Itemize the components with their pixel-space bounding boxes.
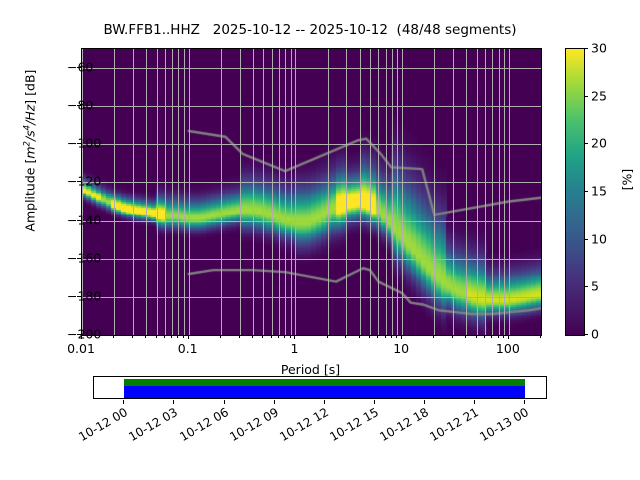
- colorbar-label: [%]: [620, 150, 635, 210]
- timeline-tick-mark: [224, 400, 225, 404]
- x-tick-mark: [290, 335, 291, 338]
- x-tick-mark: [359, 335, 360, 338]
- data-coverage-timeline: [93, 376, 547, 399]
- timeline-tick-label: 10-12 18: [370, 405, 431, 448]
- ppsd-plot-area: [81, 48, 542, 336]
- y-tick-label: −160: [67, 250, 77, 265]
- colorbar-tick-label: 5: [591, 279, 599, 294]
- timeline-tick-mark: [524, 400, 525, 404]
- colorbar-tick-label: 25: [591, 88, 607, 103]
- timeline-tick-mark: [173, 400, 174, 404]
- colorbar-tick-label: 15: [591, 184, 607, 199]
- x-tick-mark: [188, 335, 189, 339]
- x-tick-mark: [503, 335, 504, 338]
- x-tick-mark: [183, 335, 184, 338]
- timeline-tick-label: 10-12 12: [270, 405, 331, 448]
- x-axis-label: Period [s]: [81, 362, 540, 377]
- colorbar-tick-label: 30: [591, 41, 607, 56]
- timeline-tick-label: 10-13 00: [471, 405, 532, 448]
- timeline-tick-label: 10-12 21: [420, 405, 481, 448]
- colorbar-tick-mark: [584, 239, 588, 240]
- x-tick-mark: [484, 335, 485, 338]
- y-tick-label: −60: [67, 60, 77, 75]
- y-tick-label: −120: [67, 174, 77, 189]
- y-tick-label: −100: [67, 136, 77, 151]
- x-tick-mark: [327, 335, 328, 338]
- y-tick-label: −140: [67, 212, 77, 227]
- x-tick-mark: [252, 335, 253, 338]
- colorbar-tick-label: 0: [591, 327, 599, 342]
- colorbar-tick-mark: [584, 286, 588, 287]
- x-tick-mark: [377, 335, 378, 338]
- x-tick-mark: [278, 335, 279, 338]
- plot-gridlines: [82, 49, 541, 335]
- x-tick-mark: [433, 335, 434, 338]
- x-tick-mark: [540, 335, 541, 338]
- x-tick-label: 0.1: [178, 341, 198, 356]
- coverage-bar-green: [124, 379, 525, 387]
- colorbar: [565, 48, 585, 336]
- x-tick-label: 1: [290, 341, 298, 356]
- x-tick-mark: [294, 335, 295, 339]
- x-tick-mark: [345, 335, 346, 338]
- timeline-tick-mark: [123, 400, 124, 404]
- timeline-tick-label: 10-12 00: [70, 405, 131, 448]
- y-tick-label: −80: [67, 98, 77, 113]
- x-tick-mark: [132, 335, 133, 338]
- x-tick-mark: [156, 335, 157, 338]
- timeline-tick-label: 10-12 06: [170, 405, 231, 448]
- timeline-tick-mark: [474, 400, 475, 404]
- x-tick-label: 100: [496, 341, 520, 356]
- x-tick-mark: [239, 335, 240, 338]
- x-tick-label: 0.01: [67, 341, 95, 356]
- x-tick-mark: [145, 335, 146, 338]
- x-tick-mark: [171, 335, 172, 338]
- timeline-tick-mark: [274, 400, 275, 404]
- timeline-tick-label: 10-12 09: [220, 405, 281, 448]
- x-tick-mark: [396, 335, 397, 338]
- x-tick-mark: [113, 335, 114, 338]
- x-tick-mark: [491, 335, 492, 338]
- x-tick-mark: [476, 335, 477, 338]
- x-tick-mark: [391, 335, 392, 338]
- y-axis-label: Amplitude [m2/s4/Hz] [dB]: [22, 1, 37, 301]
- colorbar-tick-mark: [584, 48, 588, 49]
- page-title: BW.FFB1..HHZ 2025-10-12 -- 2025-10-12 (4…: [0, 22, 620, 38]
- coverage-bar-blue: [124, 386, 525, 398]
- x-tick-mark: [262, 335, 263, 338]
- x-tick-mark: [465, 335, 466, 338]
- x-tick-mark: [508, 335, 509, 339]
- x-tick-mark: [498, 335, 499, 338]
- x-tick-mark: [220, 335, 221, 338]
- timeline-tick-label: 10-12 15: [320, 405, 381, 448]
- colorbar-tick-mark: [584, 143, 588, 144]
- colorbar-tick-label: 10: [591, 231, 607, 246]
- x-tick-mark: [452, 335, 453, 338]
- x-tick-mark: [284, 335, 285, 338]
- colorbar-tick-label: 20: [591, 136, 607, 151]
- x-tick-mark: [81, 335, 82, 339]
- timeline-tick-label: 10-12 03: [120, 405, 181, 448]
- x-tick-mark: [369, 335, 370, 338]
- colorbar-tick-mark: [584, 191, 588, 192]
- x-tick-mark: [401, 335, 402, 339]
- timeline-tick-mark: [424, 400, 425, 404]
- x-tick-label: 10: [393, 341, 409, 356]
- timeline-tick-mark: [324, 400, 325, 404]
- x-tick-mark: [164, 335, 165, 338]
- y-tick-label: −180: [67, 288, 77, 303]
- colorbar-tick-mark: [584, 334, 588, 335]
- x-tick-mark: [385, 335, 386, 338]
- y-tick-label: −200: [67, 327, 77, 342]
- x-tick-mark: [177, 335, 178, 338]
- timeline-tick-mark: [374, 400, 375, 404]
- colorbar-tick-mark: [584, 96, 588, 97]
- x-tick-mark: [271, 335, 272, 338]
